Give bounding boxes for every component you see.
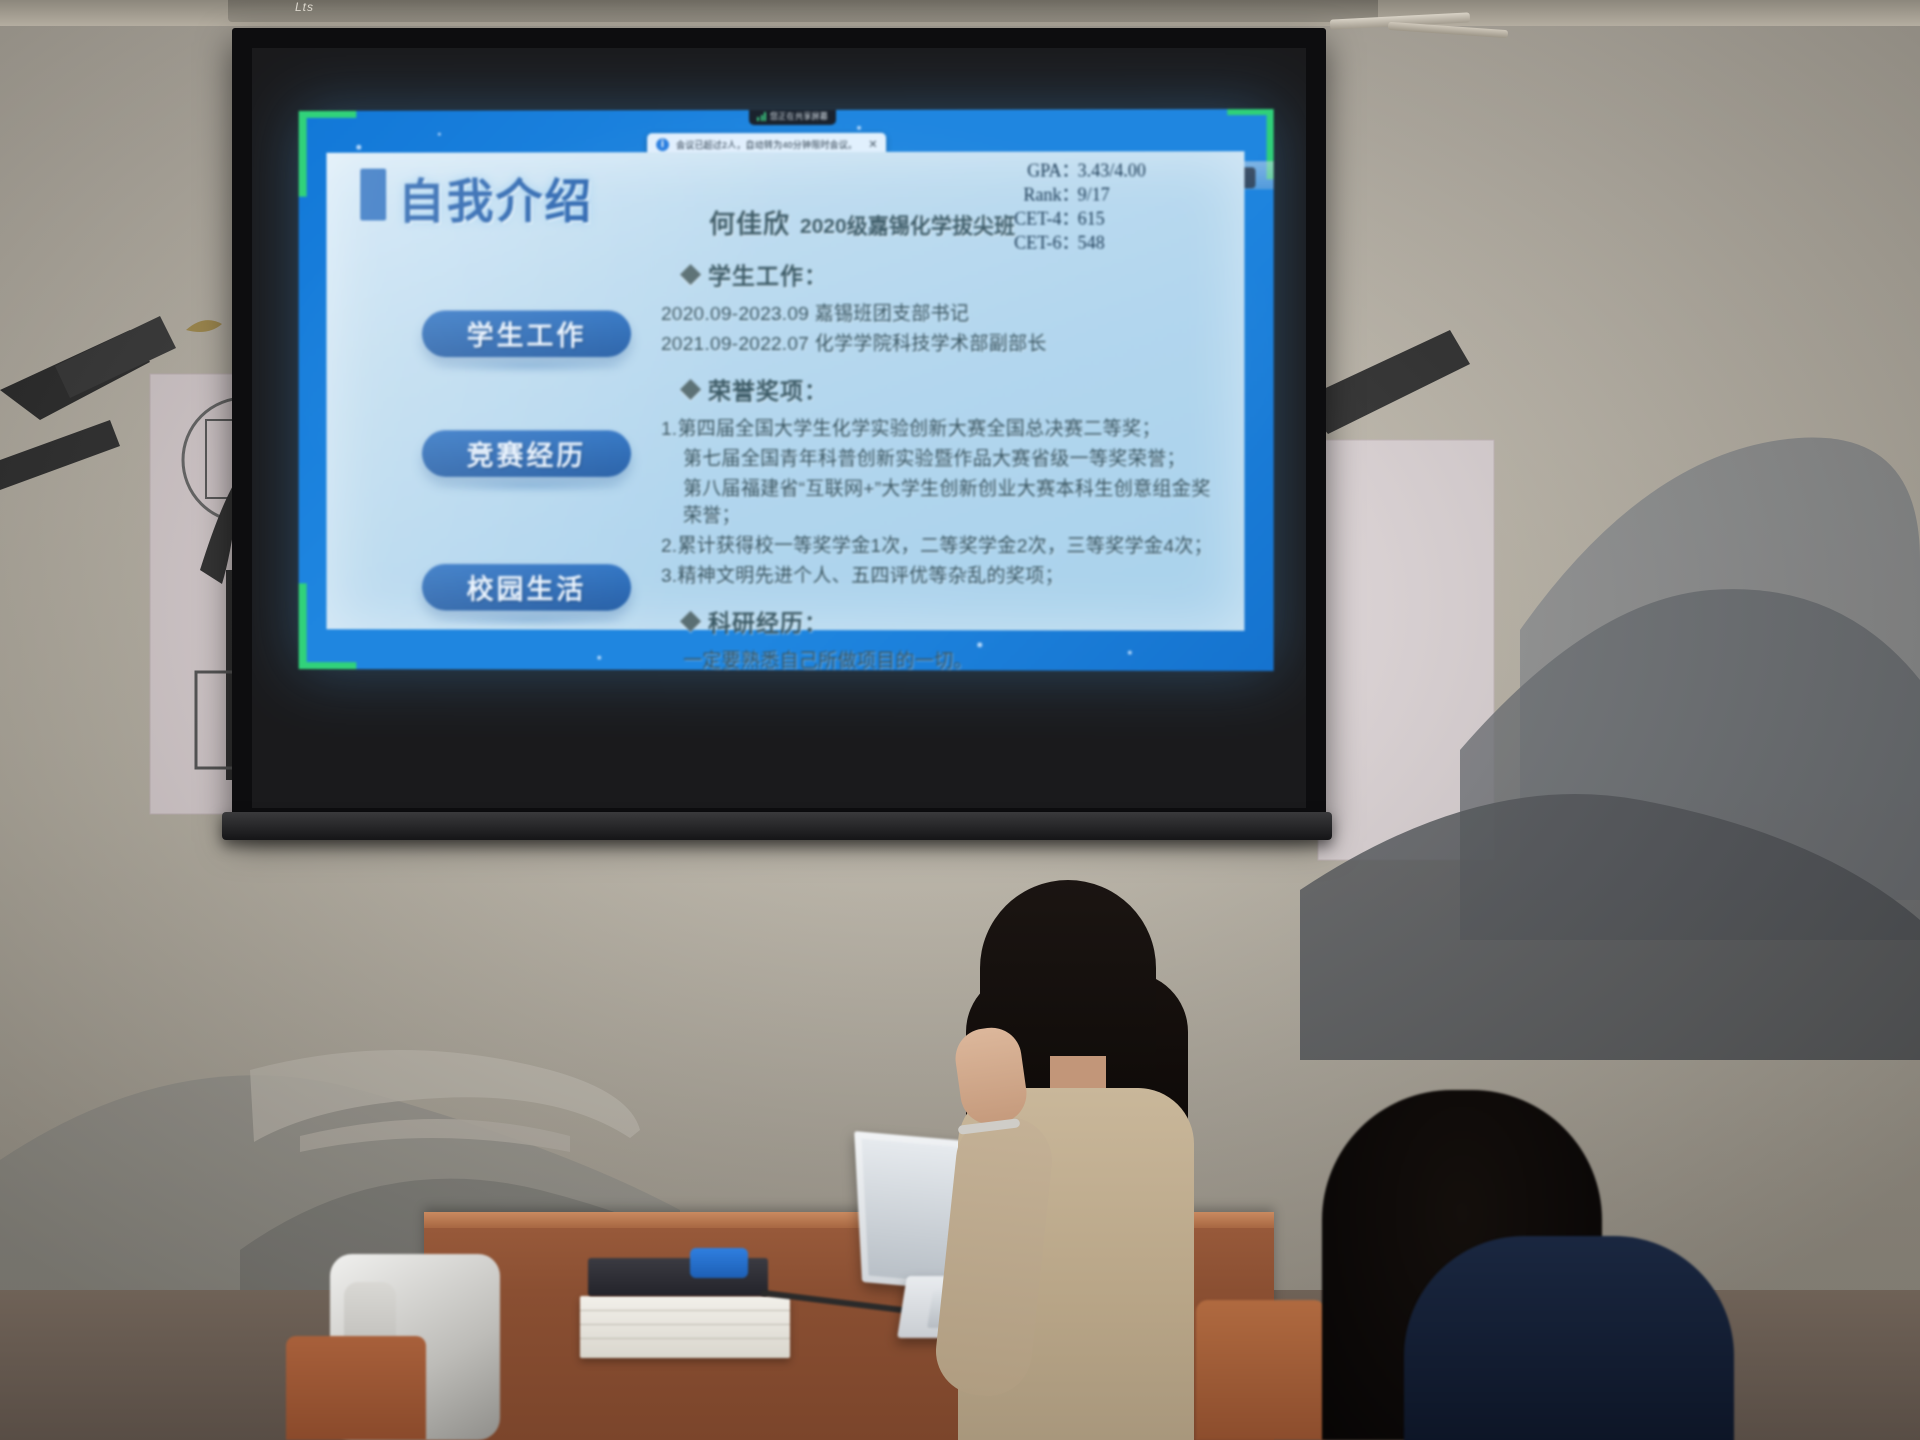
projector-screen-surface: 您正在共享屏幕 i 会议已超过2人，自动转为40分钟限时会议。 ✕ 正在讲话: …	[252, 48, 1306, 808]
stat-value: 615	[1078, 207, 1211, 231]
nav-pill-campus-life[interactable]: 校园生活	[422, 564, 631, 611]
diamond-bullet-icon	[680, 378, 701, 399]
stat-separator: ：	[1062, 184, 1078, 208]
projector-screen-bottom-bar	[222, 812, 1332, 840]
section-heading-student-work: 学生工作：	[683, 257, 1222, 291]
chair-right	[1196, 1300, 1326, 1440]
stat-separator: ：	[1062, 160, 1078, 184]
academic-stats: GPA ： 3.43/4.00 Rank ： 9/17 CET-4 ： 615	[989, 159, 1210, 255]
section-title: 荣誉奖项：	[708, 372, 828, 406]
honor-item: 1.第四届全国大学生化学实验创新大赛全国总决赛二等奖；	[661, 414, 1222, 441]
ceiling-mount	[228, 0, 1378, 22]
section-heading-research: 科研经历：	[683, 604, 1222, 639]
decor-dot	[356, 145, 361, 150]
decor-dot	[438, 133, 441, 136]
share-indicator-label: 您正在共享屏幕	[770, 111, 828, 122]
nav-pill-competitions[interactable]: 竞赛经历	[422, 430, 631, 477]
nav-pill-student-work[interactable]: 学生工作	[422, 310, 631, 357]
stat-value: 9/17	[1078, 183, 1211, 207]
screenshot-root: Lts 您正在共享屏幕	[0, 0, 1920, 1440]
chair-left	[286, 1336, 426, 1440]
presenter-person	[952, 880, 1202, 1440]
person-name: 何佳欣	[709, 204, 790, 241]
signal-bars-icon	[757, 112, 766, 121]
stat-key: GPA	[989, 160, 1061, 184]
stat-value: 3.43/4.00	[1078, 159, 1211, 183]
slide-content-card: 自我介绍 学生工作 竞赛经历 校园生活 何佳欣	[326, 151, 1244, 631]
title-accent-bar	[360, 169, 386, 221]
person-class: 2020级嘉锡化学拔尖班	[800, 210, 1015, 240]
corner-marker-bottom-left	[299, 583, 307, 669]
corner-marker-left	[299, 111, 307, 197]
research-note: 一定要熟悉自己所做项目的一切。	[683, 646, 1222, 671]
pill-label: 竞赛经历	[467, 434, 587, 473]
honor-item: 第八届福建省“互联网+”大学生创新创业大赛本科生创意组金奖荣誉；	[683, 474, 1222, 528]
corner-marker-bottom	[299, 662, 357, 669]
projected-slide: 您正在共享屏幕 i 会议已超过2人，自动转为40分钟限时会议。 ✕ 正在讲话: …	[299, 109, 1274, 671]
toast-message: 会议已超过2人，自动转为40分钟限时会议。	[676, 138, 857, 151]
audience-person-shoulders	[1404, 1236, 1734, 1440]
pill-shadow	[430, 478, 629, 494]
section-title: 科研经历：	[708, 604, 828, 638]
ceiling-label: Lts	[295, 0, 314, 14]
slide-title: 自我介绍	[398, 162, 593, 231]
stat-key: CET-4	[989, 208, 1061, 232]
honor-item: 3.精神文明先进个人、五四评优等杂乱的奖项；	[661, 561, 1222, 589]
corner-marker-top-left	[299, 111, 357, 118]
work-entry: 2020.09-2023.09 嘉锡班团支部书记	[661, 299, 1222, 326]
stat-row: CET-4 ： 615	[989, 207, 1210, 231]
work-entry: 2021.09-2022.07 化学学院科技学术部副部长	[661, 329, 1222, 356]
decor-dot	[597, 656, 601, 660]
close-icon[interactable]: ✕	[864, 138, 877, 151]
paper-stack	[580, 1296, 790, 1358]
corner-marker-top-right	[1227, 109, 1273, 115]
stat-row: GPA ： 3.43/4.00	[989, 159, 1210, 183]
stat-separator: ：	[1062, 231, 1078, 255]
stat-separator: ：	[1062, 208, 1078, 232]
stat-key: CET-6	[989, 232, 1061, 256]
honor-item: 第七届全国青年科普创新实验暨作品大赛省级一等奖荣誉；	[683, 444, 1222, 471]
stat-row: CET-6 ： 548	[989, 231, 1210, 255]
screen-share-indicator[interactable]: 您正在共享屏幕	[749, 109, 836, 125]
section-title: 学生工作：	[708, 257, 828, 291]
slide-body: 何佳欣 2020级嘉锡化学拔尖班 学生工作： 2020.09-2023.09 嘉…	[661, 203, 1222, 671]
diamond-bullet-icon	[680, 610, 701, 631]
pill-label: 学生工作	[467, 314, 587, 353]
pill-label: 校园生活	[467, 568, 587, 607]
pill-shadow	[430, 611, 629, 627]
stat-value: 548	[1078, 231, 1211, 255]
section-heading-honors: 荣誉奖项：	[683, 372, 1222, 406]
stat-key: Rank	[989, 184, 1061, 208]
pill-shadow	[430, 358, 629, 374]
blue-device	[690, 1248, 748, 1278]
decor-dot	[857, 126, 861, 130]
person-identity: 何佳欣 2020级嘉锡化学拔尖班	[709, 203, 1222, 241]
stat-row: Rank ： 9/17	[989, 183, 1210, 207]
honor-item: 2.累计获得校一等奖学金1次，二等奖学金2次，三等奖学金4次；	[661, 531, 1222, 559]
info-icon: i	[656, 138, 669, 151]
diamond-bullet-icon	[680, 263, 701, 284]
